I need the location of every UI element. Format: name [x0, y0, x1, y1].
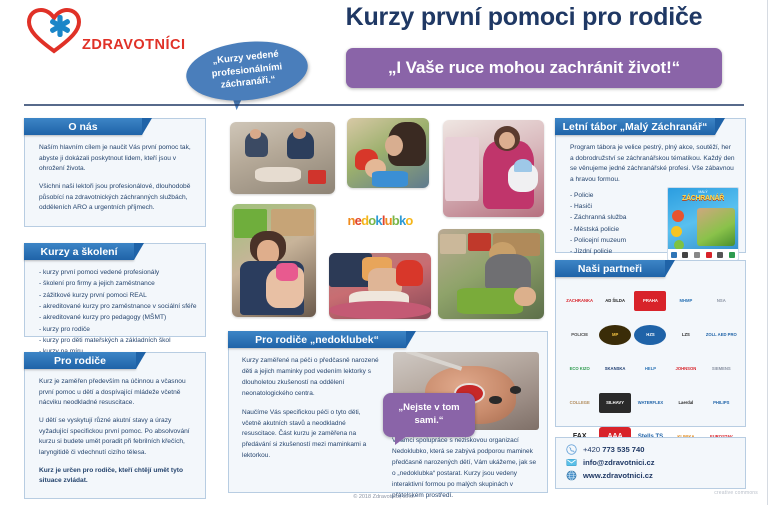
quote-bubble-nedoklubek-text: „Nejste v tom sami.“ [383, 402, 475, 428]
poster-page: ZDRAVOTNÍCI Kurzy první pomoci pro rodič… [0, 0, 768, 506]
quote-bubble-nedoklubek: „Nejste v tom sami.“ [383, 393, 475, 437]
